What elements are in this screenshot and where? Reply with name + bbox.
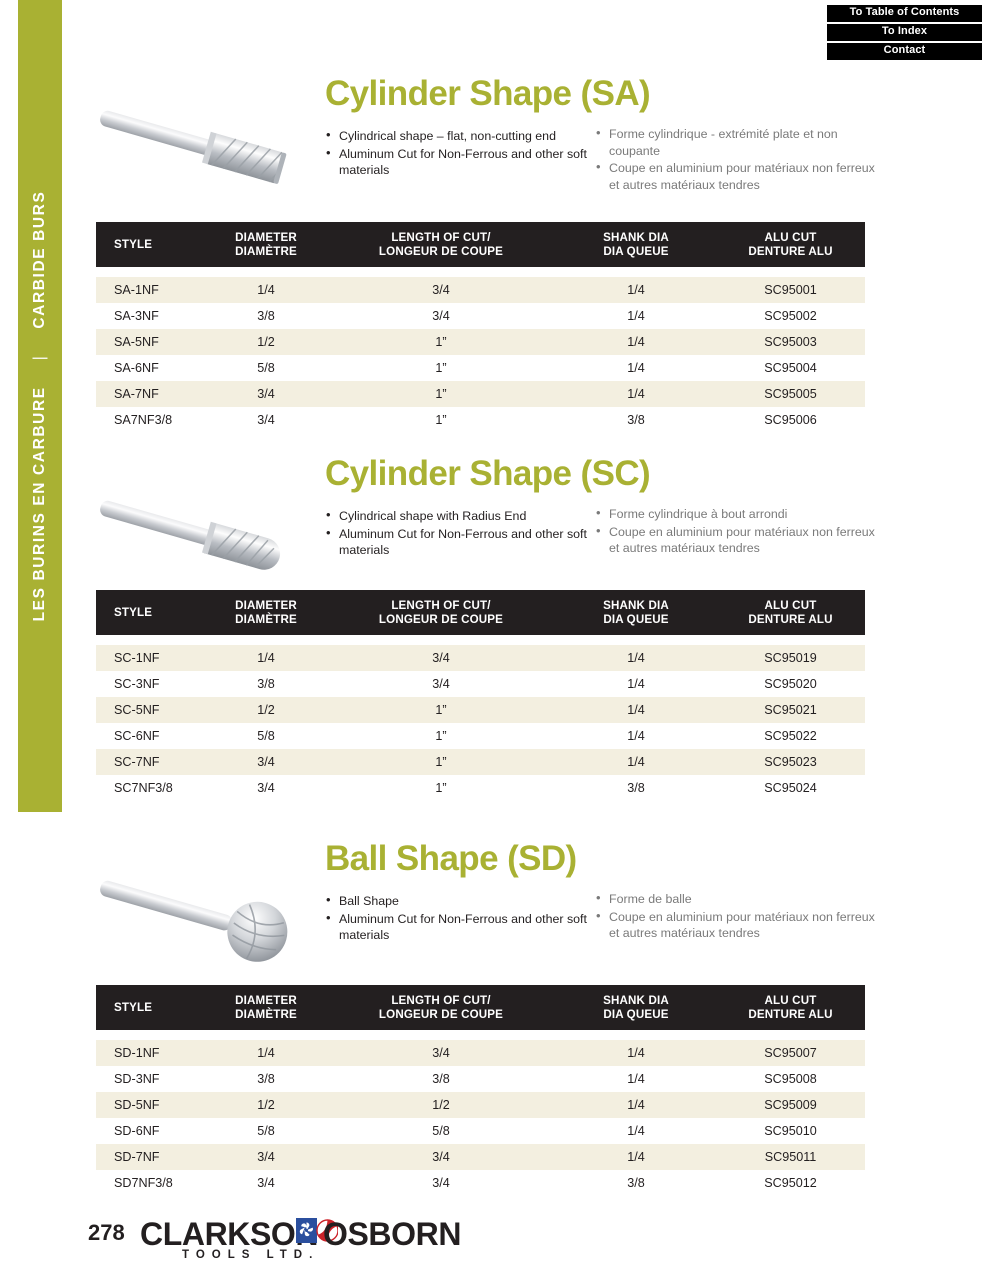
cell-alu-cut: SC95012 [716, 1170, 865, 1196]
column-header-alu-en: ALU CUT [765, 231, 817, 244]
column-header-alu-en: ALU CUT [765, 599, 817, 612]
column-header-loc-en: LENGTH OF CUT/ [391, 994, 490, 1007]
cell-style: SD-6NF [96, 1118, 206, 1144]
table-row: SD-5NF 1/2 1/2 1/4 SC95009 [96, 1092, 865, 1118]
list-item: Coupe en aluminium pour matériaux non fe… [595, 909, 885, 942]
cell-shank-dia: 1/4 [556, 355, 716, 381]
table-row: SD-7NF 3/4 3/4 1/4 SC95011 [96, 1144, 865, 1170]
side-tab-label-en: CARBIDE BURS [31, 191, 48, 329]
cell-shank-dia: 1/4 [556, 277, 716, 303]
cell-length-of-cut: 1/2 [326, 1092, 556, 1118]
page-number: 278 [88, 1220, 125, 1246]
cell-style: SC-7NF [96, 749, 206, 775]
cell-alu-cut: SC95008 [716, 1066, 865, 1092]
cell-shank-dia: 1/4 [556, 645, 716, 671]
list-item: Forme cylindrique - extrémité plate et n… [595, 126, 885, 159]
side-tab-label-fr: LES BURINS EN CARBURE [31, 386, 48, 621]
list-item: Forme cylindrique à bout arrondi [595, 506, 885, 523]
table-row: SD-6NF 5/8 5/8 1/4 SC95010 [96, 1118, 865, 1144]
cell-length-of-cut: 1” [326, 329, 556, 355]
cell-shank-dia: 1/4 [556, 1144, 716, 1170]
cell-length-of-cut: 1” [326, 749, 556, 775]
cell-shank-dia: 3/8 [556, 1170, 716, 1196]
column-header-alu-en: ALU CUT [765, 994, 817, 1007]
cell-length-of-cut: 1” [326, 381, 556, 407]
table-header-row: STYLE DIAMETER DIAMÈTRE LENGTH OF CUT/ L… [96, 222, 865, 267]
catalog-page: LES BURINS EN CARBURE|CARBIDE BURS To Ta… [0, 0, 989, 1280]
table-spacer-row [96, 1030, 865, 1040]
column-header-diameter-en: DIAMETER [235, 599, 297, 612]
column-header-length-of-cut: LENGTH OF CUT/ LONGEUR DE COUPE [326, 590, 556, 635]
cell-alu-cut: SC95024 [716, 775, 865, 801]
cell-style: SD-3NF [96, 1066, 206, 1092]
table-row: SC-1NF 1/4 3/4 1/4 SC95019 [96, 645, 865, 671]
cell-length-of-cut: 3/4 [326, 1040, 556, 1066]
cell-shank-dia: 1/4 [556, 381, 716, 407]
table-row: SA-6NF 5/8 1” 1/4 SC95004 [96, 355, 865, 381]
column-header-shank-fr: DIA QUEUE [603, 613, 668, 626]
column-header-shank-fr: DIA QUEUE [603, 1008, 668, 1021]
list-item: Ball Shape [325, 893, 587, 910]
column-header-loc-fr: LONGEUR DE COUPE [379, 1008, 503, 1021]
nav-buttons: To Table of Contents To Index Contact [827, 5, 982, 60]
column-header-diameter-fr: DIAMÈTRE [235, 245, 297, 258]
cell-alu-cut: SC95023 [716, 749, 865, 775]
specs-table-sc: STYLE DIAMETER DIAMÈTRE LENGTH OF CUT/ L… [96, 590, 865, 801]
cell-diameter: 3/4 [206, 407, 326, 433]
cell-length-of-cut: 5/8 [326, 1118, 556, 1144]
column-header-alu-cut: ALU CUT DENTURE ALU [716, 590, 865, 635]
cell-diameter: 1/2 [206, 329, 326, 355]
cell-length-of-cut: 3/4 [326, 277, 556, 303]
column-header-shank-en: SHANK DIA [603, 599, 669, 612]
cell-style: SA-7NF [96, 381, 206, 407]
cell-diameter: 1/4 [206, 277, 326, 303]
cell-alu-cut: SC95009 [716, 1092, 865, 1118]
table-row: SC7NF3/8 3/4 1” 3/8 SC95024 [96, 775, 865, 801]
table-row: SD-1NF 1/4 3/4 1/4 SC95007 [96, 1040, 865, 1066]
table-row: SC-3NF 3/8 3/4 1/4 SC95020 [96, 671, 865, 697]
cell-shank-dia: 1/4 [556, 749, 716, 775]
column-header-loc-en: LENGTH OF CUT/ [391, 231, 490, 244]
bullets-french-sc: Forme cylindrique à bout arrondi Coupe e… [595, 506, 885, 558]
cell-shank-dia: 1/4 [556, 303, 716, 329]
column-header-diameter-fr: DIAMÈTRE [235, 613, 297, 626]
cell-alu-cut: SC95006 [716, 407, 865, 433]
column-header-length-of-cut: LENGTH OF CUT/ LONGEUR DE COUPE [326, 985, 556, 1030]
cell-shank-dia: 1/4 [556, 329, 716, 355]
column-header-shank-fr: DIA QUEUE [603, 245, 668, 258]
column-header-shank-dia: SHANK DIA DIA QUEUE [556, 985, 716, 1030]
cell-length-of-cut: 1” [326, 723, 556, 749]
column-header-diameter-en: DIAMETER [235, 994, 297, 1007]
table-row: SA-1NF 1/4 3/4 1/4 SC95001 [96, 277, 865, 303]
table-row: SA-7NF 3/4 1” 1/4 SC95005 [96, 381, 865, 407]
table-spacer-row [96, 267, 865, 277]
column-header-style-label: STYLE [114, 238, 152, 251]
cell-shank-dia: 1/4 [556, 671, 716, 697]
column-header-diameter-en: DIAMETER [235, 231, 297, 244]
cell-style: SD7NF3/8 [96, 1170, 206, 1196]
brand-tagline: TOOLS LTD. [182, 1249, 319, 1261]
cell-style: SC-6NF [96, 723, 206, 749]
cell-alu-cut: SC95002 [716, 303, 865, 329]
column-header-alu-fr: DENTURE ALU [748, 613, 832, 626]
table-header-row: STYLE DIAMETER DIAMÈTRE LENGTH OF CUT/ L… [96, 590, 865, 635]
cell-shank-dia: 1/4 [556, 697, 716, 723]
column-header-style: STYLE [96, 985, 206, 1030]
column-header-style-label: STYLE [114, 606, 152, 619]
cell-diameter: 1/2 [206, 697, 326, 723]
cell-alu-cut: SC95001 [716, 277, 865, 303]
cell-style: SD-1NF [96, 1040, 206, 1066]
table-row: SD7NF3/8 3/4 3/4 3/8 SC95012 [96, 1170, 865, 1196]
cell-alu-cut: SC95007 [716, 1040, 865, 1066]
brand-name-clarkson: CLARKSON [140, 1216, 318, 1253]
page-footer: 278 CLARKSON [0, 1208, 989, 1270]
cell-style: SD-5NF [96, 1092, 206, 1118]
cell-alu-cut: SC95010 [716, 1118, 865, 1144]
cell-diameter: 3/4 [206, 775, 326, 801]
list-item: Aluminum Cut for Non-Ferrous and other s… [325, 911, 587, 944]
cell-length-of-cut: 3/8 [326, 1066, 556, 1092]
brand-name-osborn: OSBORN [323, 1216, 461, 1253]
column-header-shank-dia: SHANK DIA DIA QUEUE [556, 222, 716, 267]
list-item: Cylindrical shape with Radius End [325, 508, 587, 525]
cell-alu-cut: SC95003 [716, 329, 865, 355]
cell-style: SC-1NF [96, 645, 206, 671]
list-item: Aluminum Cut for Non-Ferrous and other s… [325, 526, 587, 559]
column-header-diameter-fr: DIAMÈTRE [235, 1008, 297, 1021]
cell-style: SA-1NF [96, 277, 206, 303]
cell-diameter: 1/4 [206, 645, 326, 671]
table-header-row: STYLE DIAMETER DIAMÈTRE LENGTH OF CUT/ L… [96, 985, 865, 1030]
cell-diameter: 3/4 [206, 749, 326, 775]
cell-diameter: 5/8 [206, 1118, 326, 1144]
cell-diameter: 3/4 [206, 1170, 326, 1196]
side-tab-separator: | [31, 329, 49, 387]
section-title-sd: Ball Shape (SD) [325, 839, 577, 879]
cell-shank-dia: 1/4 [556, 1118, 716, 1144]
bullets-english-sa: Cylindrical shape – flat, non-cutting en… [325, 128, 587, 180]
cell-diameter: 1/4 [206, 1040, 326, 1066]
contact-button[interactable]: Contact [827, 43, 982, 60]
cell-shank-dia: 1/4 [556, 723, 716, 749]
cell-alu-cut: SC95021 [716, 697, 865, 723]
cell-diameter: 3/8 [206, 303, 326, 329]
table-row: SC-5NF 1/2 1” 1/4 SC95021 [96, 697, 865, 723]
cell-style: SD-7NF [96, 1144, 206, 1170]
cell-shank-dia: 1/4 [556, 1066, 716, 1092]
cell-alu-cut: SC95022 [716, 723, 865, 749]
table-spacer-row [96, 635, 865, 645]
cell-diameter: 5/8 [206, 355, 326, 381]
list-item: Forme de balle [595, 891, 885, 908]
cell-style: SA-6NF [96, 355, 206, 381]
bullets-english-sd: Ball Shape Aluminum Cut for Non-Ferrous … [325, 893, 587, 945]
cell-length-of-cut: 1” [326, 407, 556, 433]
column-header-alu-cut: ALU CUT DENTURE ALU [716, 222, 865, 267]
brand-logo: CLARKSON [140, 1212, 470, 1264]
specs-table-sd: STYLE DIAMETER DIAMÈTRE LENGTH OF CUT/ L… [96, 985, 865, 1196]
column-header-style-label: STYLE [114, 1001, 152, 1014]
cell-style: SC7NF3/8 [96, 775, 206, 801]
to-index-button[interactable]: To Index [827, 24, 982, 41]
cell-shank-dia: 3/8 [556, 775, 716, 801]
section-title-sa: Cylinder Shape (SA) [325, 74, 650, 114]
side-tab-label: LES BURINS EN CARBURE|CARBIDE BURS [31, 191, 49, 622]
column-header-shank-dia: SHANK DIA DIA QUEUE [556, 590, 716, 635]
table-row: SC-6NF 5/8 1” 1/4 SC95022 [96, 723, 865, 749]
section-title-sc: Cylinder Shape (SC) [325, 454, 650, 494]
column-header-style: STYLE [96, 590, 206, 635]
cell-length-of-cut: 3/4 [326, 671, 556, 697]
table-row: SD-3NF 3/8 3/8 1/4 SC95008 [96, 1066, 865, 1092]
cell-length-of-cut: 1” [326, 697, 556, 723]
cell-length-of-cut: 3/4 [326, 1170, 556, 1196]
column-header-style: STYLE [96, 222, 206, 267]
cell-diameter: 3/8 [206, 671, 326, 697]
ball-shape-bur-photo [84, 864, 320, 972]
column-header-alu-fr: DENTURE ALU [748, 245, 832, 258]
cell-length-of-cut: 1” [326, 775, 556, 801]
cell-diameter: 3/4 [206, 1144, 326, 1170]
side-tab: LES BURINS EN CARBURE|CARBIDE BURS [18, 0, 62, 812]
table-row: SA7NF3/8 3/4 1” 3/8 SC95006 [96, 407, 865, 433]
column-header-loc-fr: LONGEUR DE COUPE [379, 245, 503, 258]
column-header-diameter: DIAMETER DIAMÈTRE [206, 590, 326, 635]
column-header-diameter: DIAMETER DIAMÈTRE [206, 985, 326, 1030]
cell-shank-dia: 1/4 [556, 1092, 716, 1118]
column-header-loc-fr: LONGEUR DE COUPE [379, 613, 503, 626]
table-row: SA-3NF 3/8 3/4 1/4 SC95002 [96, 303, 865, 329]
list-item: Coupe en aluminium pour matériaux non fe… [595, 524, 885, 557]
cell-alu-cut: SC95020 [716, 671, 865, 697]
column-header-length-of-cut: LENGTH OF CUT/ LONGEUR DE COUPE [326, 222, 556, 267]
cell-alu-cut: SC95019 [716, 645, 865, 671]
cell-shank-dia: 1/4 [556, 1040, 716, 1066]
bullets-french-sa: Forme cylindrique - extrémité plate et n… [595, 126, 885, 194]
cylinder-flat-end-bur-photo [84, 94, 320, 202]
bullets-english-sc: Cylindrical shape with Radius End Alumin… [325, 508, 587, 560]
cell-length-of-cut: 3/4 [326, 1144, 556, 1170]
cell-alu-cut: SC95004 [716, 355, 865, 381]
cell-length-of-cut: 3/4 [326, 303, 556, 329]
cell-diameter: 3/8 [206, 1066, 326, 1092]
table-row: SA-5NF 1/2 1” 1/4 SC95003 [96, 329, 865, 355]
cell-diameter: 1/2 [206, 1092, 326, 1118]
column-header-shank-en: SHANK DIA [603, 231, 669, 244]
cell-style: SA7NF3/8 [96, 407, 206, 433]
bullets-french-sd: Forme de balle Coupe en aluminium pour m… [595, 891, 885, 943]
table-row: SC-7NF 3/4 1” 1/4 SC95023 [96, 749, 865, 775]
cell-alu-cut: SC95011 [716, 1144, 865, 1170]
list-item: Cylindrical shape – flat, non-cutting en… [325, 128, 587, 145]
cell-diameter: 5/8 [206, 723, 326, 749]
cell-diameter: 3/4 [206, 381, 326, 407]
cell-length-of-cut: 3/4 [326, 645, 556, 671]
cell-shank-dia: 3/8 [556, 407, 716, 433]
cell-style: SA-3NF [96, 303, 206, 329]
to-table-of-contents-button[interactable]: To Table of Contents [827, 5, 982, 22]
list-item: Coupe en aluminium pour matériaux non fe… [595, 160, 885, 193]
column-header-alu-cut: ALU CUT DENTURE ALU [716, 985, 865, 1030]
column-header-shank-en: SHANK DIA [603, 994, 669, 1007]
column-header-diameter: DIAMETER DIAMÈTRE [206, 222, 326, 267]
list-item: Aluminum Cut for Non-Ferrous and other s… [325, 146, 587, 179]
cell-alu-cut: SC95005 [716, 381, 865, 407]
cell-style: SC-5NF [96, 697, 206, 723]
column-header-loc-en: LENGTH OF CUT/ [391, 599, 490, 612]
column-header-alu-fr: DENTURE ALU [748, 1008, 832, 1021]
cell-length-of-cut: 1” [326, 355, 556, 381]
cell-style: SC-3NF [96, 671, 206, 697]
cylinder-radius-end-bur-photo [84, 484, 320, 592]
cell-style: SA-5NF [96, 329, 206, 355]
specs-table-sa: STYLE DIAMETER DIAMÈTRE LENGTH OF CUT/ L… [96, 222, 865, 433]
